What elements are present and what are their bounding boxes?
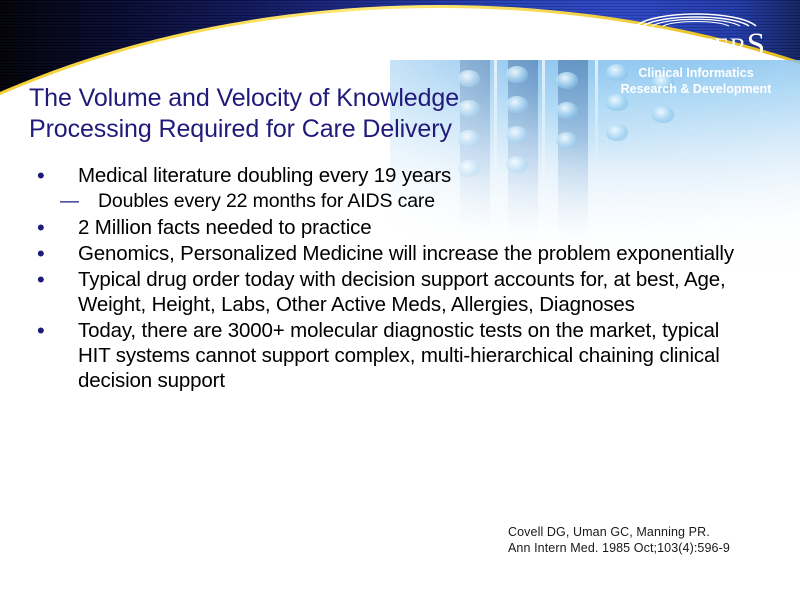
citation-block: Covell DG, Uman GC, Manning PR. Ann Inte… <box>508 524 730 556</box>
bullet-marker: • <box>24 163 78 188</box>
scan-light-bar <box>595 60 598 174</box>
presentation-slide: PARTNERS Clinical Informatics Research &… <box>0 0 800 600</box>
bullet-item: • Typical drug order today with decision… <box>24 267 748 317</box>
brain-scan-blob <box>506 66 528 83</box>
logo-wordmark-p: P <box>626 27 645 63</box>
bullet-item: • 2 Million facts needed to practice <box>24 215 748 240</box>
slide-title-line-2: Processing Required for Care Delivery <box>29 114 589 145</box>
slide-title: The Volume and Velocity of Knowledge Pro… <box>29 83 589 145</box>
brain-scan-blob <box>652 106 674 123</box>
bullet-text: Doubles every 22 months for AIDS care <box>98 189 435 214</box>
logo-wordmark: PARTNERS <box>606 28 786 65</box>
bullet-item: • Genomics, Personalized Medicine will i… <box>24 241 748 266</box>
partners-logo: PARTNERS Clinical Informatics Research &… <box>606 8 786 96</box>
logo-subtitle-line1: Clinical Informatics <box>606 66 786 81</box>
bullet-item: • Medical literature doubling every 19 y… <box>24 163 748 188</box>
bullet-text: Genomics, Personalized Medicine will inc… <box>78 241 734 266</box>
bullet-marker: • <box>24 215 78 240</box>
bullet-item: • Today, there are 3000+ molecular diagn… <box>24 318 748 393</box>
bullet-text: 2 Million facts needed to practice <box>78 215 371 240</box>
bullet-marker: • <box>24 318 78 343</box>
bullet-marker: — <box>46 189 98 214</box>
logo-arc-icon <box>633 8 759 27</box>
slide-title-line-1: The Volume and Velocity of Knowledge <box>29 83 589 114</box>
citation-authors: Covell DG, Uman GC, Manning PR. <box>508 524 730 540</box>
bullet-marker: • <box>24 241 78 266</box>
bullet-text: Typical drug order today with decision s… <box>78 267 748 317</box>
slide-body-bullets: • Medical literature doubling every 19 y… <box>24 163 748 394</box>
citation-reference: Ann Intern Med. 1985 Oct;103(4):596-9 <box>508 540 730 556</box>
bullet-marker: • <box>24 267 78 292</box>
bullet-text: Medical literature doubling every 19 yea… <box>78 163 451 188</box>
logo-wordmark-s: S <box>747 27 766 63</box>
logo-subtitle-line2: Research & Development <box>606 82 786 97</box>
brain-scan-blob <box>606 94 628 111</box>
brain-scan-blob <box>606 124 628 141</box>
bullet-text: Today, there are 3000+ molecular diagnos… <box>78 318 748 393</box>
logo-wordmark-artner: ARTNER <box>645 34 747 61</box>
bullet-item: — Doubles every 22 months for AIDS care <box>46 189 748 214</box>
